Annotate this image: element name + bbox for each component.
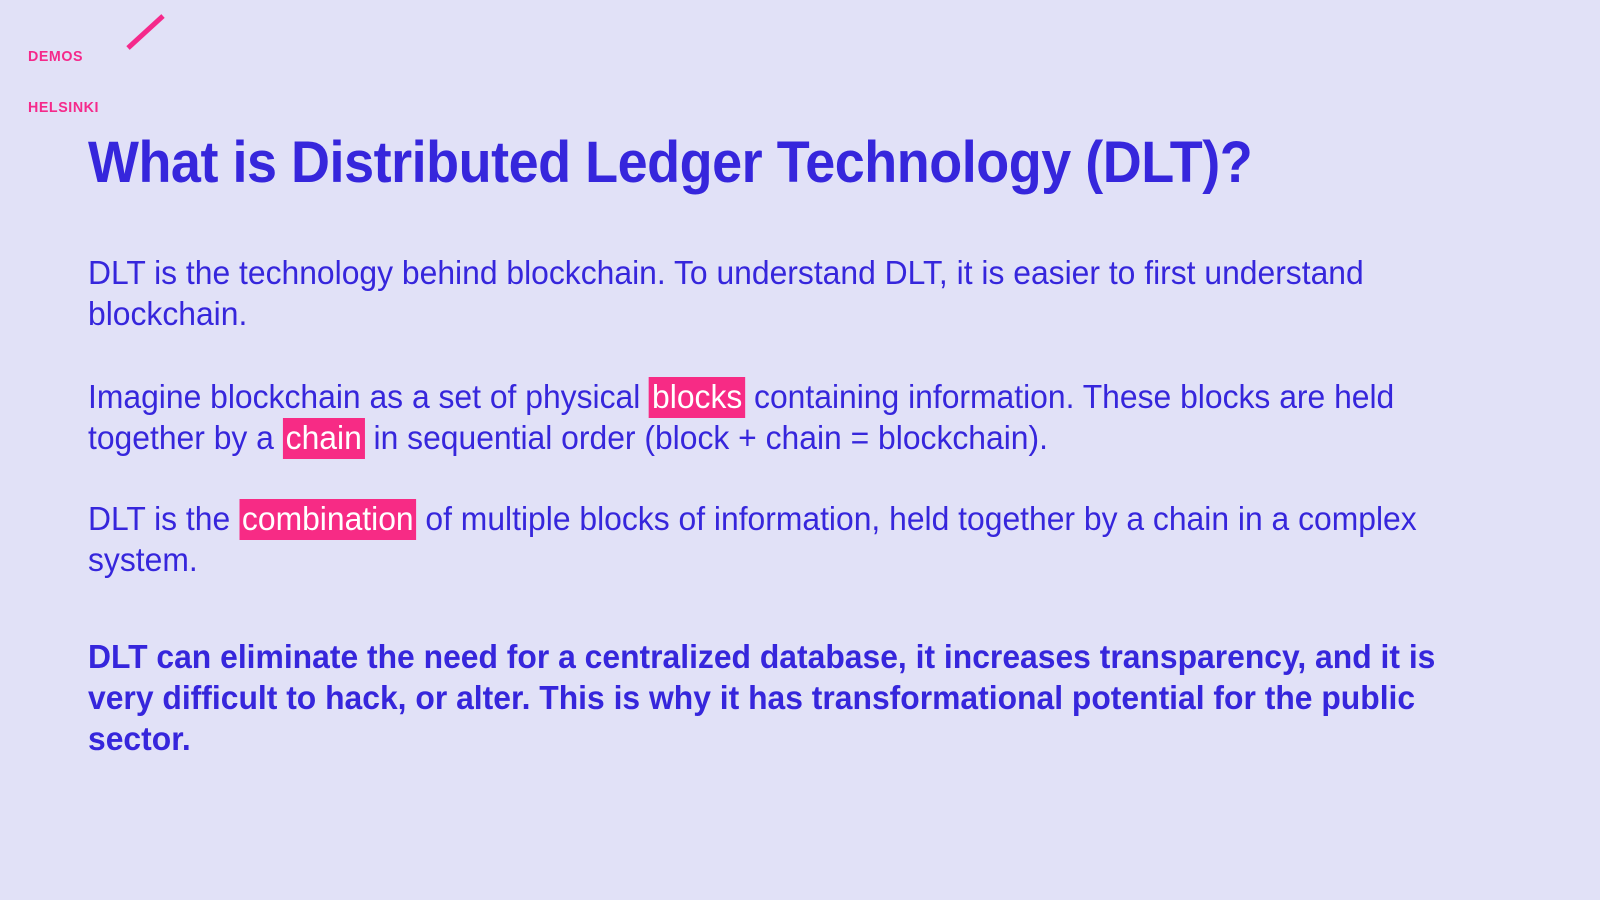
paragraph-4-emphasis: DLT can eliminate the need for a central… [88, 636, 1458, 759]
page-title: What is Distributed Ledger Technology (D… [88, 128, 1252, 198]
highlight-chain: chain [283, 418, 365, 459]
paragraph-2: Imagine blockchain as a set of physical … [88, 376, 1458, 458]
paragraph-3-text-a: DLT is the [88, 500, 239, 537]
highlight-combination: combination [239, 499, 417, 540]
paragraph-2-text-a: Imagine blockchain as a set of physical [88, 378, 649, 415]
paragraph-4-text: DLT can eliminate the need for a central… [88, 638, 1435, 757]
paragraph-2-text-c: in sequential order (block + chain = blo… [365, 419, 1048, 456]
brand-logo-line-1: DEMOS [28, 48, 99, 65]
paragraph-3: DLT is the combination of multiple block… [88, 498, 1458, 580]
paragraph-1-text: DLT is the technology behind blockchain.… [88, 254, 1364, 332]
brand-logo-line-2: HELSINKI [28, 99, 99, 116]
highlight-blocks: blocks [649, 377, 745, 418]
slide-body: DLT is the technology behind blockchain.… [88, 252, 1508, 759]
slash-icon [123, 14, 169, 52]
paragraph-1: DLT is the technology behind blockchain.… [88, 252, 1458, 334]
